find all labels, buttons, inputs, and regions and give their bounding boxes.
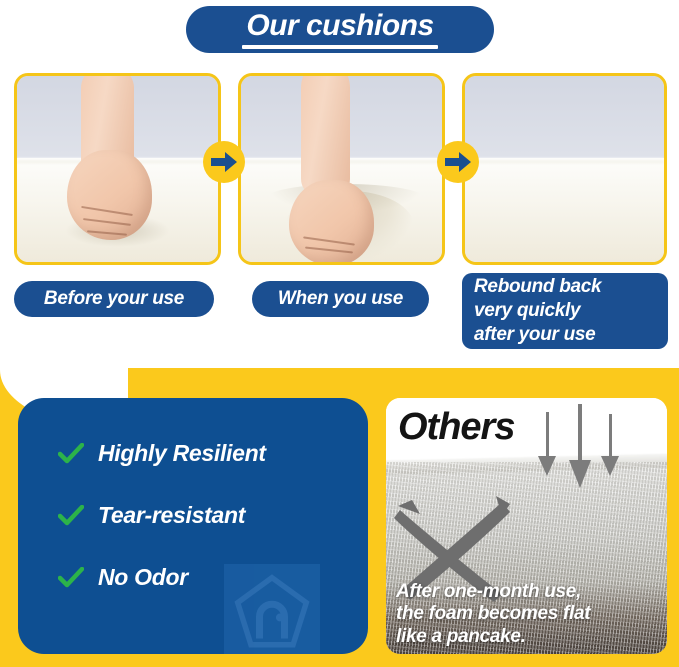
photo-wall bbox=[465, 76, 664, 163]
others-caption-line-3: like a pancake. bbox=[396, 626, 590, 648]
fist-shape bbox=[289, 180, 373, 265]
step-label-text: When you use bbox=[278, 288, 403, 310]
benefit-item: No Odor bbox=[58, 564, 188, 591]
benefit-label: No Odor bbox=[98, 564, 188, 591]
check-icon bbox=[58, 443, 84, 465]
benefit-item: Highly Resilient bbox=[58, 440, 266, 467]
others-caption-line-1: After one-month use, bbox=[396, 581, 590, 603]
photo-foam-edge bbox=[465, 158, 664, 163]
benefit-label: Tear-resistant bbox=[98, 502, 245, 529]
check-icon bbox=[58, 567, 84, 589]
page-title-banner: Our cushions bbox=[186, 6, 494, 53]
title-underline bbox=[242, 45, 438, 49]
photo-background bbox=[465, 76, 664, 262]
benefit-label: Highly Resilient bbox=[98, 440, 266, 467]
pressure-arrow-icon bbox=[569, 404, 591, 490]
others-title: Others bbox=[398, 406, 514, 449]
step-photo-before bbox=[14, 73, 221, 265]
fist-shape bbox=[67, 150, 151, 239]
step-label-line-2: very quickly bbox=[474, 299, 580, 323]
others-comparison-card: Others After one-month use, the foam bec… bbox=[386, 398, 667, 654]
step-photo-during bbox=[238, 73, 445, 265]
pressure-arrow-icon bbox=[538, 412, 556, 476]
photo-background bbox=[17, 76, 218, 262]
step-photo-after bbox=[462, 73, 667, 265]
step-label-before: Before your use bbox=[14, 281, 214, 317]
photo-background bbox=[241, 76, 442, 262]
benefit-item: Tear-resistant bbox=[58, 502, 245, 529]
page-title: Our cushions bbox=[246, 11, 433, 41]
step-label-after: Rebound back very quickly after your use bbox=[462, 273, 668, 349]
pressure-arrow-icon bbox=[601, 414, 619, 476]
benefits-card: Highly Resilient Tear-resistant No Odor bbox=[18, 398, 368, 654]
arrow-right-icon bbox=[437, 141, 479, 183]
arrow-right-icon bbox=[203, 141, 245, 183]
check-icon bbox=[58, 505, 84, 527]
step-label-text: Before your use bbox=[44, 288, 184, 310]
step-label-line-1: Rebound back bbox=[474, 275, 601, 299]
others-caption: After one-month use, the foam becomes fl… bbox=[396, 581, 590, 648]
photo-foam-surface bbox=[465, 158, 664, 262]
product-infographic: Our cushions bbox=[0, 0, 679, 667]
others-caption-line-2: the foam becomes flat bbox=[396, 603, 590, 625]
forearm-shape bbox=[301, 73, 349, 195]
step-label-during: When you use bbox=[252, 281, 429, 317]
pentagon-house-logo-icon bbox=[224, 564, 320, 654]
step-label-line-3: after your use bbox=[474, 323, 595, 347]
